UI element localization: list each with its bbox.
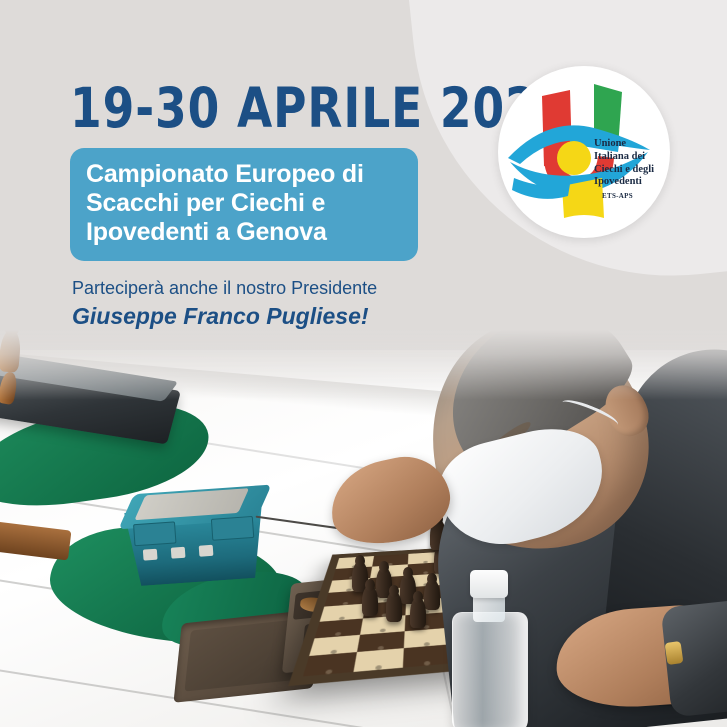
event-title-line: Ipovedenti a Genova <box>86 218 402 247</box>
uici-logo-name-line: Italiana dei <box>594 151 654 164</box>
event-title-line: Scacchi per Ciechi e <box>86 189 402 218</box>
uici-logo-name-line: Unione <box>594 138 654 151</box>
bottle-body <box>452 612 528 727</box>
event-title-box: Campionato Europeo di Scacchi per Ciechi… <box>70 148 418 261</box>
chess-clock-display-left <box>133 521 176 546</box>
uici-logo-name-line: Ciechi e degli <box>594 164 654 177</box>
uici-logo-legal-suffix: ETS-APS <box>602 192 633 200</box>
subtitle-intro: Parteciperà anche il nostro Presidente <box>72 278 377 299</box>
chess-clock <box>117 485 273 587</box>
chess-clock-button <box>199 545 214 557</box>
chess-clock-display-right <box>211 516 254 541</box>
bottle-cap <box>470 570 508 598</box>
chess-piece <box>362 586 378 616</box>
uici-logo-name-line: Ipovedenti <box>594 176 654 189</box>
event-title-line: Campionato Europeo di <box>86 160 402 189</box>
poster: 19-30 APRILE 2023 Campionato Europeo di … <box>0 0 727 727</box>
wedding-ring <box>665 641 684 665</box>
chess-square <box>303 652 357 676</box>
chess-square <box>353 648 403 672</box>
wooden-chess-piece <box>0 330 22 373</box>
uici-logo: Unione Italiana dei Ciechi e degli Ipove… <box>498 66 670 238</box>
chess-clock-button <box>143 549 158 561</box>
subtitle-president-name: Giuseppe Franco Pugliese! <box>72 303 369 330</box>
water-bottle <box>452 570 526 727</box>
uici-logo-name: Unione Italiana dei Ciechi e degli Ipove… <box>594 138 654 189</box>
event-date: 19-30 APRILE 2023 <box>70 76 570 140</box>
photo-chess-player <box>0 330 727 727</box>
chess-clock-button <box>171 547 186 559</box>
